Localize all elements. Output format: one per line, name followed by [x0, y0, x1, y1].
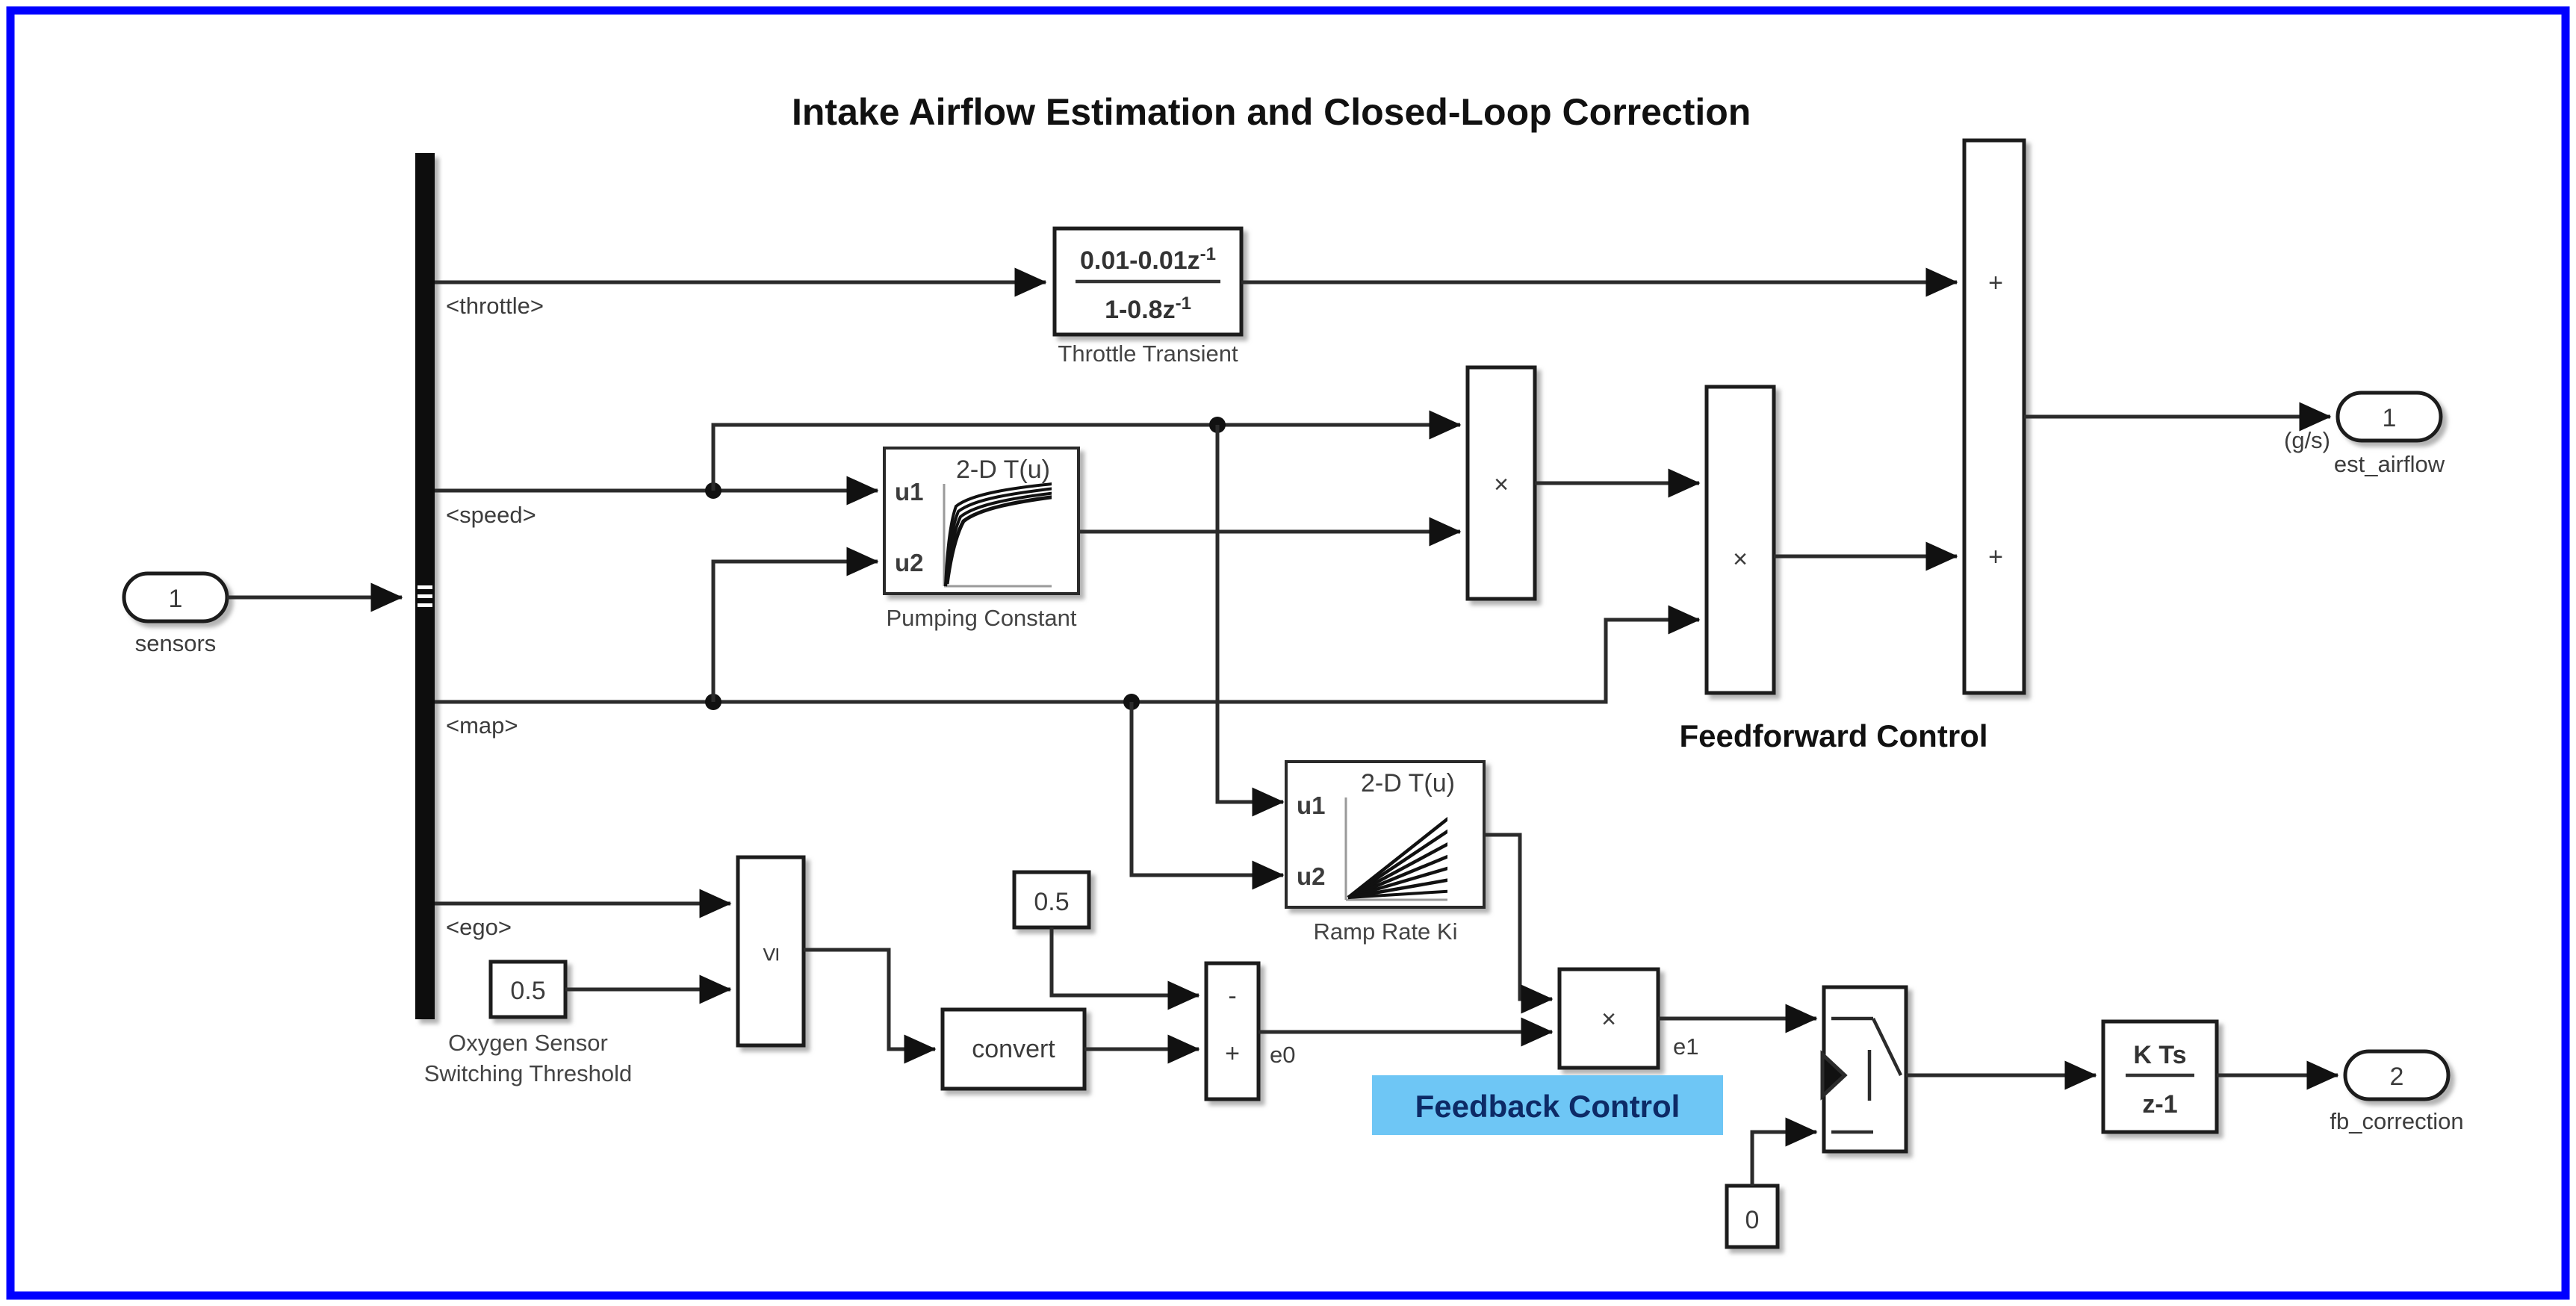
simulink-diagram-canvas: Intake Airflow Estimation and Closed-Loo… [0, 0, 2576, 1306]
product-ff2-operator: × [1733, 545, 1748, 573]
signal-label-e1: e1 [1673, 1033, 1698, 1060]
pumping-constant-type-label: 2-D T(u) [956, 455, 1050, 484]
relational-operator-symbol: ≤ [756, 948, 784, 962]
product-ff1-operator: × [1494, 470, 1509, 499]
product-e1-operator: × [1601, 1005, 1616, 1033]
bus-selector-input-port-marker [418, 585, 432, 607]
wire-speed-to-ramp-u1 [1217, 425, 1283, 802]
pumping-constant-input-u2-label: u2 [895, 549, 924, 576]
pumping-constant-input-u1-label: u1 [895, 478, 924, 506]
wire-speed-branch-to-product-ff1 [713, 425, 1460, 491]
wire-map-to-pumping-u2 [713, 562, 878, 702]
annotation-feedback-control: Feedback Control [1415, 1089, 1680, 1124]
bus-signal-label-throttle: <throttle> [446, 293, 544, 319]
setpoint-constant-value: 0.5 [1034, 888, 1069, 916]
wire-setpoint-to-sum-e0 [1052, 927, 1199, 995]
wire-zero-to-switch [1752, 1132, 1816, 1186]
bus-signal-label-map: <map> [446, 712, 518, 738]
sum-e0-sign-bottom: + [1225, 1039, 1240, 1068]
block-product-ff2[interactable] [1707, 387, 1774, 693]
ramp-rate-ki-input-u2-label: u2 [1297, 862, 1326, 890]
throttle-transient-numerator: 0.01-0.01z-1 [1080, 244, 1216, 275]
outport-fb-correction-number: 2 [2390, 1063, 2404, 1091]
data-type-convert-label: convert [972, 1035, 1055, 1063]
threshold-constant-value: 0.5 [510, 977, 545, 1005]
annotation-feedforward-control: Feedforward Control [1679, 718, 1987, 753]
sum-airflow-sign-bottom: + [1988, 543, 2003, 571]
wire-relational-to-convert [804, 950, 935, 1049]
block-sum-airflow[interactable] [1964, 140, 2024, 693]
wire-map-main [435, 620, 1699, 702]
zero-constant-value: 0 [1745, 1206, 1760, 1234]
signal-label-e0: e0 [1270, 1042, 1295, 1068]
wire-map-to-ramp-u2 [1132, 702, 1283, 875]
ramp-rate-ki-name: Ramp Rate Ki [1314, 918, 1458, 945]
outport-est-airflow-unit: (g/s) [2284, 427, 2330, 453]
relational-operator-name-line1: Oxygen Sensor [448, 1030, 608, 1056]
outport-fb-correction-label: fb_correction [2330, 1108, 2463, 1134]
outport-est-airflow-number: 1 [2383, 404, 2397, 432]
inport-sensors-label: sensors [135, 630, 217, 656]
throttle-transient-name: Throttle Transient [1058, 341, 1238, 367]
pumping-constant-name: Pumping Constant [886, 605, 1076, 631]
wire-ramp-rate-ki-to-product-e1 [1484, 835, 1552, 999]
discrete-integrator-numerator: K Ts [2133, 1041, 2186, 1069]
inport-sensors-number: 1 [169, 585, 183, 613]
bus-signal-label-speed: <speed> [446, 502, 536, 528]
ramp-rate-ki-type-label: 2-D T(u) [1361, 769, 1455, 797]
sum-airflow-sign-top: + [1988, 269, 2003, 297]
outport-est-airflow-label: est_airflow [2334, 451, 2445, 477]
sum-e0-sign-top: - [1228, 982, 1236, 1010]
diagram-title: Intake Airflow Estimation and Closed-Loo… [792, 91, 1751, 133]
relational-operator-name-line2: Switching Threshold [424, 1060, 633, 1086]
discrete-integrator-denominator: z-1 [2142, 1090, 2177, 1119]
bus-signal-label-ego: <ego> [446, 914, 512, 940]
ramp-rate-ki-input-u1-label: u1 [1297, 792, 1326, 819]
